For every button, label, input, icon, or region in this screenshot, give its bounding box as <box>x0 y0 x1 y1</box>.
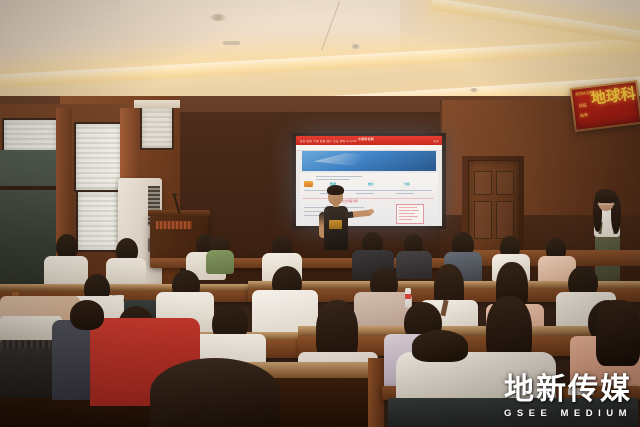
foreground-person-lap <box>0 348 52 398</box>
door-panel-bottom-right <box>496 201 514 239</box>
presenter-hair <box>327 185 344 195</box>
presenter-hand <box>368 209 374 214</box>
foreground-person-head <box>70 300 104 330</box>
bench-desk-2-left <box>0 284 250 291</box>
woman-hair-top <box>595 189 617 203</box>
foreground-head-silhouette <box>150 358 280 427</box>
website-nav-menu[interactable]: 首页 新闻 专题 视频 图片 论坛 博客 English <box>300 139 357 143</box>
led-banner-line-3: 指导 <box>580 112 589 119</box>
lectern-nameplate <box>156 221 192 229</box>
microphone-icon <box>172 193 177 197</box>
presenter-shirt-print <box>329 220 342 229</box>
ceiling-downlight-3 <box>470 88 478 92</box>
ceiling-downlight-2 <box>351 44 360 49</box>
door-panel-top-right <box>496 171 514 195</box>
watermark-english-text: GSEE MEDIUM <box>504 408 632 419</box>
led-banner-line-2: 莅临 <box>578 102 587 109</box>
window-mullion-horizontal <box>0 186 58 190</box>
audience-body <box>206 250 234 274</box>
led-banner-frame: 热烈欢迎各位 莅临 指导 地球科 <box>570 80 640 132</box>
audience-body <box>106 258 146 286</box>
website-login-link[interactable]: 登录 <box>433 139 439 143</box>
watermark: 地新传媒 GSEE MEDIUM <box>504 374 632 419</box>
content-popup-box <box>396 204 424 224</box>
foreground-person-head <box>412 330 468 362</box>
blind-valance <box>134 100 180 108</box>
ceiling-air-vent <box>223 41 240 45</box>
water-bottle-label <box>405 294 411 299</box>
lecture-hall-photo: 热烈欢迎各位 莅临 指导 地球科 首页 新闻 专题 视频 图片 论坛 博客 En… <box>0 0 640 427</box>
window-pane-4 <box>140 106 174 150</box>
content-label-2: 统计 <box>368 182 374 186</box>
ceiling-downlight-1 <box>210 14 226 21</box>
website-top-navbar: 首页 新闻 专题 视频 图片 论坛 博客 English 中国科技网 登录 <box>296 136 442 145</box>
content-orange-icon <box>304 181 313 187</box>
led-banner-main-text: 地球科 <box>590 86 637 106</box>
door-panel-bottom-left <box>474 201 492 239</box>
window-pane-2 <box>74 122 122 192</box>
content-label-3: 分析 <box>404 182 410 186</box>
audience-body <box>396 251 432 279</box>
foreground-person-head-right <box>596 300 640 366</box>
led-banner-display: 热烈欢迎各位 莅临 指导 地球科 <box>572 82 640 130</box>
watermark-chinese-text: 地新传媒 <box>504 374 632 406</box>
door-panel-top-left <box>474 171 492 195</box>
window-pane-3 <box>76 190 122 252</box>
website-title: 中国科技网 <box>358 137 374 141</box>
